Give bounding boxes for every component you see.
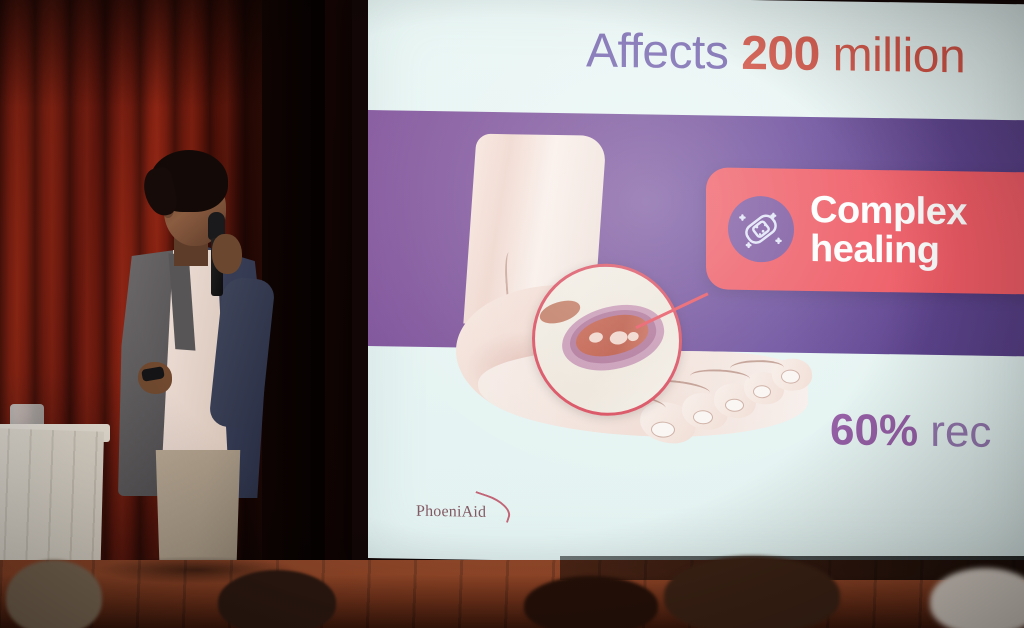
headline-suffix: million	[820, 28, 965, 83]
stat-label: rec	[918, 407, 991, 457]
audience-head	[664, 556, 840, 628]
toenail-4	[754, 386, 770, 397]
stat-value: 60%	[830, 405, 918, 455]
phoenixaid-logo: PhoeniAid	[416, 503, 486, 522]
toenail-3	[726, 400, 743, 411]
wound-slough-3	[627, 331, 640, 342]
presentation-scene: Affects 200 million	[0, 0, 1024, 628]
callout-line-2: healing	[810, 230, 967, 272]
headline-prefix: Affects	[586, 24, 741, 79]
logo-text-1: Phoeni	[416, 503, 462, 521]
speaker	[112, 150, 288, 620]
slide-headline: Affects 200 million	[586, 23, 965, 84]
slide-purple-band: Complex healing	[368, 110, 1024, 356]
toenail-5	[782, 371, 799, 383]
callout-line-1: Complex	[810, 191, 967, 233]
projection-screen: Affects 200 million	[368, 0, 1024, 568]
audience-head	[524, 576, 658, 628]
audience-head	[218, 570, 336, 628]
callout-text: Complex healing	[810, 191, 967, 272]
complex-healing-callout: Complex healing	[706, 167, 1024, 294]
toenail-big	[652, 422, 674, 436]
recurrence-stat: 60% rec	[830, 405, 991, 458]
toenail-2	[694, 411, 712, 423]
wound-slough-2	[608, 330, 629, 347]
wound-magnifier-circle	[532, 263, 682, 417]
headline-number: 200	[741, 27, 820, 81]
wound-slough-1	[588, 331, 604, 344]
hand-holding-microphone	[212, 234, 242, 274]
audience-head	[6, 560, 102, 628]
bandage-icon	[728, 196, 794, 263]
